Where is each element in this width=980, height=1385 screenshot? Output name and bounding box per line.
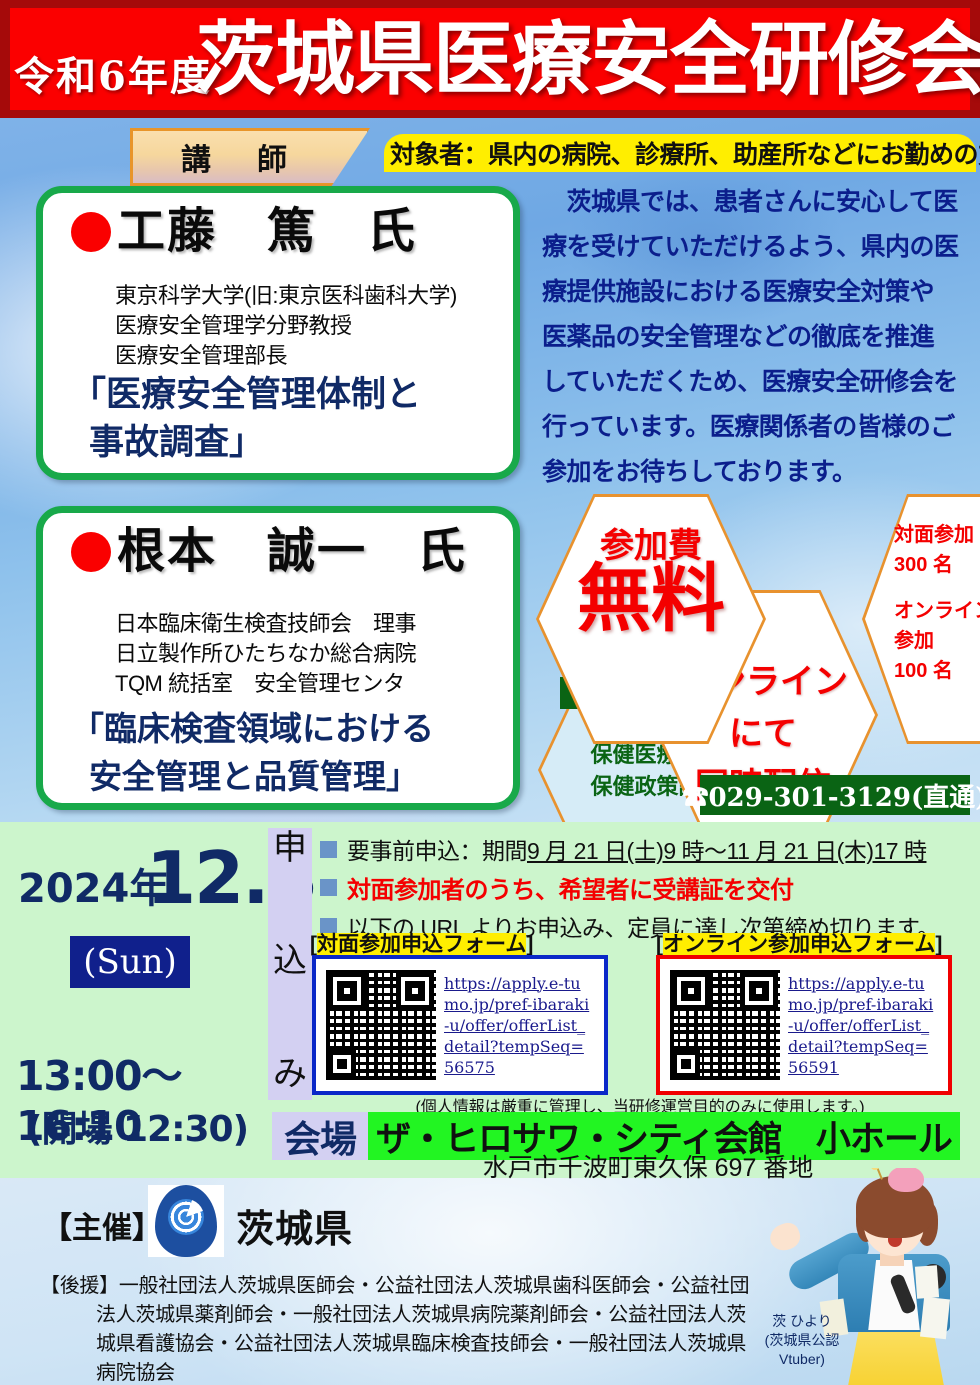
label-bracket-open: [ [656,933,663,956]
speaker-2-topic-line-2: 安全管理と品質管理」 [71,753,434,801]
speaker-1-topic-line-1: 「医療安全管理体制と [71,375,421,414]
capacity-inperson-count: 300 名 [894,550,980,580]
red-bullet-icon [71,212,111,252]
paper-card-icon [920,1297,950,1339]
speaker-1-affiliation: 東京科学大学(旧:東京医科歯科大学) 医療安全管理学分野教授 医療安全管理部長 [115,281,457,371]
paper-card-icon [915,1265,939,1298]
intro-line-1: 茨城県では、患者さんに安心して医 [542,180,968,225]
capacity-online-count: 100 名 [894,656,980,686]
label-bracket-close: ] [935,933,942,956]
application-bullet-2-text: 対面参加者のうち、希望者に受講証を交付 [347,870,794,905]
intro-line-7: 参加をお待ちしております。 [542,450,968,495]
application-period-range: 9 月 21 日(土)9 時〜11 月 21 日(木)17 時 [527,838,926,864]
venue-tag-label: 会場 [284,1109,356,1163]
intro-line-4: 医薬品の安全管理などの徹底を推進 [542,315,968,360]
capacity-online-label-2: 参加 [894,626,980,656]
speaker-1-name: 工藤 篤 氏 [117,203,417,261]
vtuber-caption: 茨 ひより (茨城県公認 Vtuber) [756,1312,848,1369]
application-bullet-1-text: 要事前申込：期間9 月 21 日(土)9 時〜11 月 21 日(木)17 時 [347,832,926,866]
speaker-1-affiliation-line-3: 医療安全管理部長 [115,341,457,371]
speaker-2-affiliation-line-3: TQM 統括室 安全管理センタ [115,669,416,699]
capacity-online-label-1: オンライン [894,596,980,626]
speaker-2-name: 根本 誠一 氏 [117,523,467,581]
venue-tag: 会場 [272,1112,368,1160]
page-title: 茨城県医療安全研修会 [196,12,980,106]
speaker-1-name-row: 工藤 篤 氏 [71,203,417,261]
supporters-label: 【後援】 [40,1275,119,1297]
speaker-card-2: 根本 誠一 氏 日本臨床衛生検査技師会 理事 日立製作所ひたちなか総合病院 TQ… [36,506,520,810]
application-bullet-2: 対面参加者のうち、希望者に受講証を交付 [320,870,980,905]
capacity-inperson-label: 対面参加 [894,520,980,550]
lecturer-banner-label: 講 師 [181,135,295,179]
speaker-2-affiliation-line-1: 日本臨床衛生検査技師会 理事 [115,609,416,639]
speaker-1-affiliation-line-1: 東京科学大学(旧:東京医科歯科大学) [115,281,457,311]
speaker-1-affiliation-line-2: 医療安全管理学分野教授 [115,311,457,341]
online-form-label: [オンライン参加申込フォーム] [656,928,942,958]
speaker-2-topic: 「臨床検査領域における 安全管理と品質管理」 [71,705,434,801]
supporters-block: 【後援】一般社団法人茨城県医師会・公益社団法人茨城県歯科医師会・公益社団 法人茨… [40,1272,760,1385]
ibaraki-prefecture-logo [148,1185,224,1257]
supporters-line-3: 城県看護協会・公益社団法人茨城県臨床検査技師会・一般社団法人茨城県 [40,1330,760,1359]
speaker-1-topic-line-2: 事故調査」 [71,419,421,467]
header-band: 令和6年度 茨城県医療安全研修会 [0,0,980,118]
application-vertical-char-3: み [273,1056,307,1092]
inperson-form-box[interactable]: https://apply.e-tumo.jp/pref-ibaraki-u/o… [312,955,608,1095]
supporters-line-1: 一般社団法人茨城県医師会・公益社団法人茨城県歯科医師会・公益社団 [119,1275,749,1297]
fee-hexagon: 参加費 無料 [536,494,766,744]
supporters-line-4: 病院協会 [40,1359,760,1385]
speaker-2-topic-line-1: 「臨床検査領域における [71,710,434,747]
event-weekday-badge: (Sun) [70,936,190,988]
target-audience-text: 対象者：県内の病院、診療所、助産所などにお勤めの方 [390,135,980,171]
speaker-card-1: 工藤 篤 氏 東京科学大学(旧:東京医科歯科大学) 医療安全管理学分野教授 医療… [36,186,520,480]
capacity-text: 対面参加 300 名 オンライン 参加 100 名 [894,520,980,686]
target-audience-banner: 対象者：県内の病院、診療所、助産所などにお勤めの方 [384,134,976,172]
intro-line-2: 療を受けていただけるよう、県内の医 [542,225,968,270]
application-vertical-char-2: 込 [273,943,307,979]
capacity-hexagon: 対面参加 300 名 オンライン 参加 100 名 [862,494,980,744]
bullet-square-icon [320,841,337,858]
label-highlight: オンライン参加申込フォーム [663,933,935,956]
host-name: 茨城県 [236,1198,353,1253]
application-period-prefix: 要事前申込：期間 [347,838,527,864]
application-vertical-label: 申 込 み [268,828,312,1100]
intro-line-3: 療提供施設における医療安全対策や [542,270,968,315]
qr-code-inperson[interactable] [326,970,436,1080]
intro-description: 茨城県では、患者さんに安心して医 療を受けていただけるよう、県内の医 療提供施設… [542,180,968,495]
vtuber-name: 茨 ひより [756,1312,848,1331]
header-fiscal-year: 令和6年度 [14,44,212,102]
intro-line-5: していただくため、医療安全研修会を [542,360,968,405]
vtuber-credit-2: Vtuber) [756,1350,848,1369]
lecturer-banner: 講 師 [130,128,370,186]
contact-phone-number: ☎029-301-3129(直通) [682,777,980,814]
contact-phone-bar: ☎029-301-3129(直通) [700,775,970,815]
speaker-1-topic: 「医療安全管理体制と 事故調査」 [71,371,421,467]
spiral-icon [155,1185,217,1257]
red-bullet-icon [71,532,111,572]
intro-line-6: 行っています。医療関係者の皆様のご [542,405,968,450]
bullet-square-icon [320,879,337,896]
event-open-time: (開場 12:30) [26,1100,248,1152]
vtuber-credit-1: (茨城県公認 [756,1331,848,1350]
qr-code-online[interactable] [670,970,780,1080]
host-label: 【主催】 [42,1203,162,1247]
anglerfish-hat-icon [888,1168,924,1192]
inperson-form-label: [対面参加申込フォーム] [310,928,533,958]
application-bullet-1: 要事前申込：期間9 月 21 日(土)9 時〜11 月 21 日(木)17 時 [320,832,980,866]
supporters-line-2: 法人茨城県薬剤師会・一般社団法人茨城県病院薬剤師会・公益社団法人茨 [40,1301,760,1330]
inperson-form-url[interactable]: https://apply.e-tumo.jp/pref-ibaraki-u/o… [444,973,594,1078]
spacer [894,580,980,596]
poster-root: 令和6年度 茨城県医療安全研修会 講 師 対象者：県内の病院、診療所、助産所など… [0,0,980,1385]
label-bracket-open: [ [310,933,317,956]
event-weekday: (Sun) [83,942,177,982]
application-vertical-char-1: 申 [273,830,307,866]
speaker-2-affiliation: 日本臨床衛生検査技師会 理事 日立製作所ひたちなか総合病院 TQM 統括室 安全… [115,609,416,699]
online-form-box[interactable]: https://apply.e-tumo.jp/pref-ibaraki-u/o… [656,955,952,1095]
speaker-2-affiliation-line-2: 日立製作所ひたちなか総合病院 [115,639,416,669]
hand-shape [766,1220,803,1255]
fee-value: 無料 [536,556,766,642]
online-form-url[interactable]: https://apply.e-tumo.jp/pref-ibaraki-u/o… [788,973,938,1078]
label-highlight: 対面参加申込フォーム [317,933,526,956]
speaker-2-name-row: 根本 誠一 氏 [71,523,467,581]
label-bracket-close: ] [526,933,533,956]
